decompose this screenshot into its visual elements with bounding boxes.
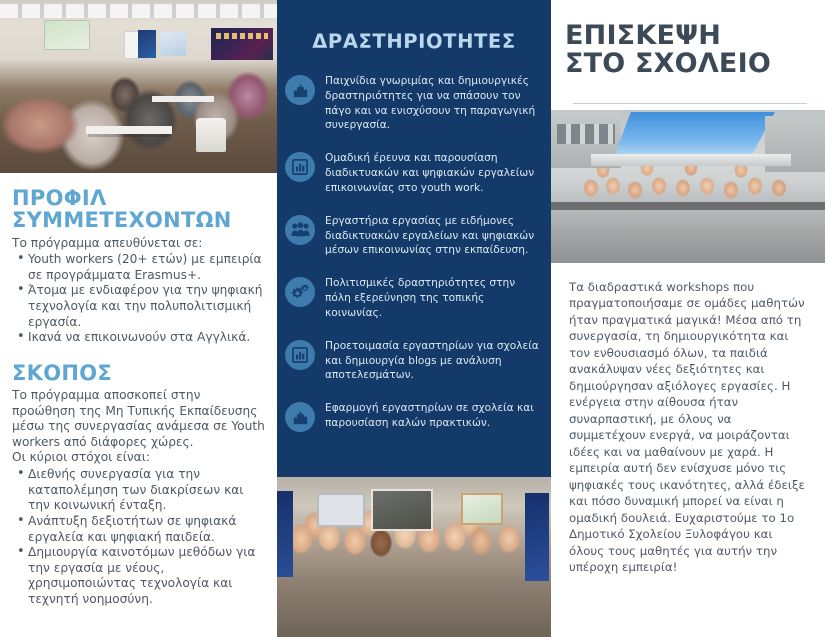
projector-screen xyxy=(160,32,186,56)
rollup-banner-right xyxy=(525,493,549,581)
rollup-banner-left xyxy=(277,491,293,577)
window-row xyxy=(0,4,277,18)
purpose-lead-1: Το πρόγραμμα αποσκοπεί στην προώθηση της… xyxy=(12,388,265,450)
list-item: Διεθνής συνεργασία για την καταπολέμηση … xyxy=(12,467,265,514)
right-column: ΕΠΙΣΚΕΨΗ ΣΤΟ ΣΧΟΛΕΙΟ Τα διαδραστικά work… xyxy=(551,0,825,637)
window xyxy=(461,493,503,525)
people-group-icon xyxy=(285,215,315,245)
profile-heading-line2: ΣΥΜΜΕΤΕΧΟΝΤΩΝ xyxy=(12,208,232,232)
activity-item: Εφαρμογή εργαστηρίων σε σχολεία και παρο… xyxy=(285,400,539,432)
group-photo-indoor xyxy=(277,477,551,637)
activities-heading: ΔΡΑΣΤΗΡΙΟΤΗΤΕΣ xyxy=(277,0,551,53)
activity-text: Εφαρμογή εργαστηρίων σε σχολεία και παρο… xyxy=(315,400,539,431)
city-buildings-icon xyxy=(285,402,315,432)
list-item: Ικανά να επικοινωνούν στα Αγγλικά. xyxy=(12,330,265,346)
sky xyxy=(615,112,775,154)
activity-text: Παιχνίδια γνωριμίας και δημιουργικές δρα… xyxy=(315,73,539,133)
activity-item: Εργαστήρια εργασίας με ειδήμονες διαδικτ… xyxy=(285,213,539,258)
activity-text: Ομαδική έρευνα και παρουσίαση διαδικτυακ… xyxy=(315,150,539,195)
canopy xyxy=(591,154,791,166)
visit-body-text: Τα διαδραστικά workshops που πραγματοποι… xyxy=(551,263,825,576)
gears-icon xyxy=(285,277,315,307)
profile-bullet-list: Youth workers (20+ ετών) με εμπειρία σε … xyxy=(12,252,265,346)
activities-list: Παιχνίδια γνωριμίας και δημιουργικές δρα… xyxy=(277,73,551,432)
chair xyxy=(196,118,226,152)
poster xyxy=(138,30,156,58)
profile-lead: Το πρόγραμμα απευθύνεται σε: xyxy=(12,236,265,252)
visit-heading-line1: ΕΠΙΣΚΕΨΗ xyxy=(565,20,721,51)
activity-text: Πολιτισμικές δραστηριότητες στην πόλη εξ… xyxy=(315,275,539,320)
list-item: Ανάπτυξη δεξιοτήτων σε ψηφιακά εργαλεία … xyxy=(12,514,265,545)
ground xyxy=(551,227,825,263)
bench-wall xyxy=(551,202,825,210)
middle-column: ΔΡΑΣΤΗΡΙΟΤΗΤΕΣ Παιχνίδια γνωριμίας και δ… xyxy=(277,0,551,637)
activity-item: Ομαδική έρευνα και παρουσίαση διαδικτυακ… xyxy=(285,150,539,195)
photo-image xyxy=(0,0,277,173)
bar-chart-icon xyxy=(285,340,315,370)
left-text-block: ΠΡΟΦΙΛ ΣΥΜΜΕΤΕΧΟΝΤΩΝ Το πρόγραμμα απευθύ… xyxy=(0,173,277,608)
activity-item: Παιχνίδια γνωριμίας και δημιουργικές δρα… xyxy=(285,73,539,133)
brochure-page: ΠΡΟΦΙΛ ΣΥΜΜΕΤΕΧΟΝΤΩΝ Το πρόγραμμα απευθύ… xyxy=(0,0,825,637)
list-item: Youth workers (20+ ετών) με εμπειρία σε … xyxy=(12,252,265,283)
table-back xyxy=(152,96,214,102)
list-item: Δημιουργία καινοτόμων μεθόδων για την ερ… xyxy=(12,545,265,607)
list-item: Άτομα με ενδιαφέρον για την ψηφιακή τεχν… xyxy=(12,283,265,330)
table-front xyxy=(86,126,172,134)
purpose-lead-2: Οι κύριοι στόχοι είναι: xyxy=(12,450,265,466)
projection-screen xyxy=(44,20,90,50)
activity-text: Εργαστήρια εργασίας με ειδήμονες διαδικτ… xyxy=(315,213,539,258)
photo-image xyxy=(551,110,825,263)
visit-heading-line2: ΣΤΟ ΣΧΟΛΕΙΟ xyxy=(565,48,771,79)
projection-screen xyxy=(371,489,433,531)
visit-heading: ΕΠΙΣΚΕΨΗ ΣΤΟ ΣΧΟΛΕΙΟ xyxy=(551,0,825,79)
city-buildings-icon xyxy=(285,75,315,105)
purpose-heading: ΣΚΟΠΟΣ xyxy=(12,362,265,384)
welcome-banner xyxy=(211,28,273,60)
profile-heading-line1: ΠΡΟΦΙΛ xyxy=(12,186,107,210)
bar-chart-icon xyxy=(285,152,315,182)
purpose-bullet-list: Διεθνής συνεργασία για την καταπολέμηση … xyxy=(12,467,265,607)
divider xyxy=(573,103,807,104)
activity-item: Προετοιμασία εργαστηρίων για σχολεία και… xyxy=(285,338,539,383)
activity-text: Προετοιμασία εργαστηρίων για σχολεία και… xyxy=(315,338,539,383)
school-group-photo-outdoor xyxy=(551,110,825,263)
activity-item: Πολιτισμικές δραστηριότητες στην πόλη εξ… xyxy=(285,275,539,320)
photo-image xyxy=(277,477,551,637)
classroom-workshop-photo xyxy=(0,0,277,173)
left-column: ΠΡΟΦΙΛ ΣΥΜΜΕΤΕΧΟΝΤΩΝ Το πρόγραμμα απευθύ… xyxy=(0,0,277,637)
profile-heading: ΠΡΟΦΙΛ ΣΥΜΜΕΤΕΧΟΝΤΩΝ xyxy=(12,187,265,232)
noticeboard xyxy=(317,493,365,527)
